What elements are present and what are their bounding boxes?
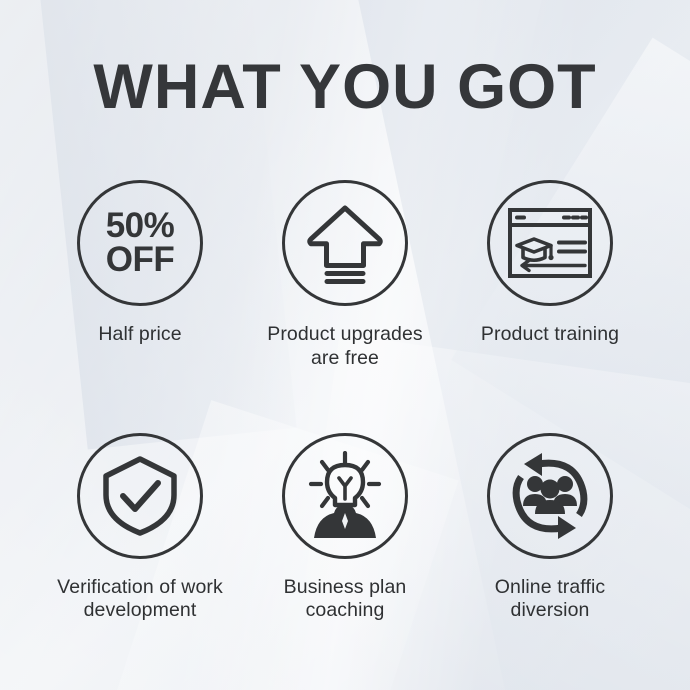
benefits-row: Verification of work development [0,433,690,624]
shield-check-icon [101,454,179,538]
discount-line-2: OFF [106,243,175,277]
benefit-caption: Product training [481,323,619,347]
caption-line-2: diversion [495,599,606,623]
benefit-item-product-training: Product training [448,180,653,347]
benefit-item-business-coaching: Business plan coaching [243,433,448,624]
people-cycle-arrows-icon [505,451,595,541]
benefits-grid: 50% OFF Half price [0,180,690,623]
benefits-row: 50% OFF Half price [0,180,690,371]
lightbulb-person-idea-icon [301,451,389,541]
caption-line-1: Verification of work [57,576,223,598]
discount-line-1: 50% [106,206,175,245]
online-course-window-icon [507,206,593,280]
caption-line-1: Product upgrades [267,323,423,345]
online-course-window-icon-wrap [487,180,613,306]
caption-line-1: Product training [481,323,619,345]
benefit-item-verification: Verification of work development [38,433,243,624]
benefit-item-half-price: 50% OFF Half price [38,180,243,347]
benefit-caption: Business plan coaching [284,576,407,624]
caption-line-1: Half price [98,323,181,345]
benefit-item-product-upgrades: Product upgrades are free [243,180,448,371]
benefit-caption: Verification of work development [57,576,223,624]
benefit-caption: Online traffic diversion [495,576,606,624]
lightbulb-person-idea-icon-wrap [282,433,408,559]
people-cycle-arrows-icon-wrap [487,433,613,559]
benefit-caption: Product upgrades are free [267,323,423,371]
benefit-item-traffic-diversion: Online traffic diversion [448,433,653,624]
caption-line-1: Online traffic [495,576,606,598]
upgrade-arrow-icon [305,201,385,285]
shield-check-icon-wrap [77,433,203,559]
page-title: WHAT YOU GOT [0,56,690,119]
caption-line-2: are free [267,347,423,371]
poster-canvas: WHAT YOU GOT 50% OFF Half price [0,0,690,690]
caption-line-2: development [57,599,223,623]
caption-line-2: coaching [284,599,407,623]
discount-text: 50% OFF [106,209,175,278]
fifty-percent-off-badge-icon: 50% OFF [77,180,203,306]
upgrade-arrow-icon-wrap [282,180,408,306]
caption-line-1: Business plan [284,576,407,598]
benefit-caption: Half price [98,323,181,347]
